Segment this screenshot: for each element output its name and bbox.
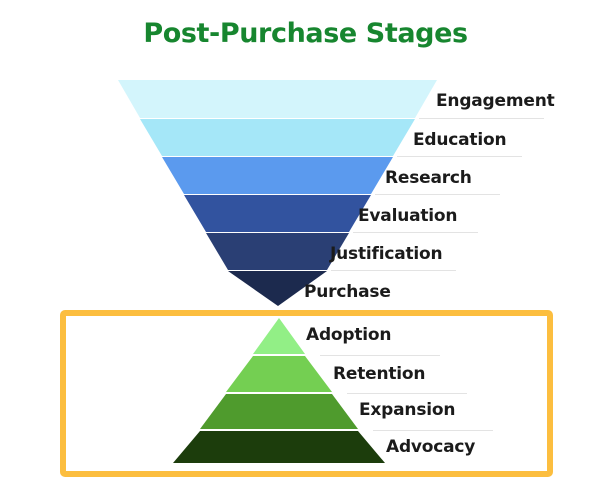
funnel-band-engagement	[118, 80, 437, 118]
stage-label-engagement: Engagement	[436, 93, 555, 110]
funnel-band-evaluation	[184, 195, 371, 232]
separator-engagement-education	[419, 118, 544, 119]
funnel-pre-purchase	[118, 80, 437, 306]
stage-label-adoption: Adoption	[306, 327, 391, 344]
stage-label-retention: Retention	[333, 366, 425, 383]
funnel-band-justification	[206, 233, 349, 270]
funnel-band-research	[162, 157, 393, 194]
funnel-diagram-canvas: Post-Purchase Stages Engagement Educat	[0, 0, 611, 500]
stage-label-justification: Justification	[330, 246, 442, 263]
stage-label-expansion: Expansion	[359, 402, 455, 419]
separator-research-evaluation	[375, 194, 500, 195]
funnel-band-education	[140, 119, 415, 156]
stage-label-evaluation: Evaluation	[358, 208, 457, 225]
separator-retention-expansion	[347, 393, 467, 394]
stage-label-purchase: Purchase	[304, 284, 391, 301]
stage-label-research: Research	[385, 170, 472, 187]
separator-adoption-retention	[320, 355, 440, 356]
separator-expansion-advocacy	[373, 430, 493, 431]
separator-evaluation-justification	[353, 232, 478, 233]
stage-label-advocacy: Advocacy	[386, 439, 475, 456]
stage-label-education: Education	[413, 132, 506, 149]
separator-education-research	[397, 156, 522, 157]
separator-justification-purchase	[331, 270, 456, 271]
